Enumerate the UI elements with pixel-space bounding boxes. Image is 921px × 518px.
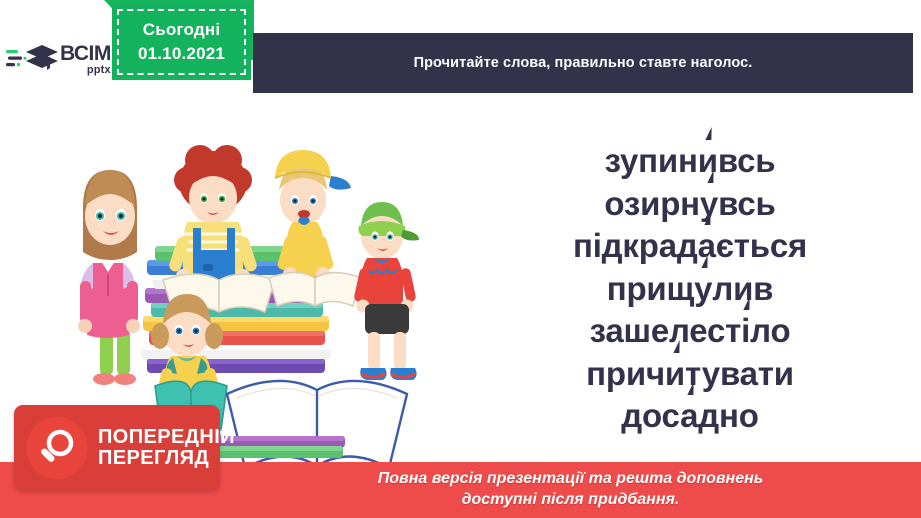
word-suffix: дно <box>698 397 758 434</box>
word-prefix: зашелест <box>590 312 742 349</box>
word-prefix: підкрад <box>573 227 698 264</box>
logo-title: ВСІМ <box>60 43 111 64</box>
date-badge: Сьогодні 01.10.2021 <box>112 4 251 80</box>
right-margin <box>913 0 921 518</box>
banner-line-2: доступні після придбання. <box>462 490 680 511</box>
word-prefix: прич <box>586 355 665 392</box>
magnifier-icon <box>26 417 88 479</box>
date-badge-value: 01.10.2021 <box>138 44 225 64</box>
word-suffix: лив <box>712 270 773 307</box>
preview-badge-text: ПОПЕРЕДНІЙ ПЕРЕГЛЯД <box>98 427 235 469</box>
graduation-cap-icon <box>6 39 58 79</box>
word-item: озирнувсь <box>604 183 775 226</box>
word-list: зупинивсь озирнувсь підкрадається прищул… <box>470 140 910 438</box>
accented-vowel: а <box>680 397 698 434</box>
logo-subtitle: pptx <box>60 65 111 76</box>
word-prefix: зупин <box>605 142 698 179</box>
word-item: підкрадається <box>573 225 807 268</box>
brand-logo[interactable]: ВСІМ pptx <box>0 27 126 91</box>
word-item: зашелестіло <box>590 310 791 353</box>
word-suffix: всь <box>718 142 776 179</box>
preview-line-1: ПОПЕРЕДНІЙ <box>98 427 235 448</box>
word-suffix: всь <box>718 185 776 222</box>
header-bar: Прочитайте слова, правильно ставте нагол… <box>253 33 913 93</box>
word-suffix: тувати <box>685 355 794 392</box>
preview-badge[interactable]: ПОПЕРЕДНІЙ ПЕРЕГЛЯД <box>14 405 220 490</box>
word-suffix: ло <box>750 312 790 349</box>
word-prefix: прищ <box>607 270 694 307</box>
accented-vowel: і <box>741 312 750 349</box>
word-suffix: ється <box>716 227 807 264</box>
slide-canvas: Прочитайте слова, правильно ставте нагол… <box>0 0 921 518</box>
date-badge-label: Сьогодні <box>143 20 221 40</box>
banner-line-1: Повна версія презентації та решта доповн… <box>378 469 764 490</box>
word-prefix: дос <box>621 397 680 434</box>
word-item: зупинивсь <box>605 140 776 183</box>
word-prefix: озирн <box>604 185 700 222</box>
accented-vowel: у <box>694 270 712 307</box>
word-item: досадно <box>621 395 758 438</box>
header-title: Прочитайте слова, правильно ставте нагол… <box>404 55 763 71</box>
accented-vowel: и <box>665 355 685 392</box>
preview-line-2: ПЕРЕГЛЯД <box>98 448 235 469</box>
